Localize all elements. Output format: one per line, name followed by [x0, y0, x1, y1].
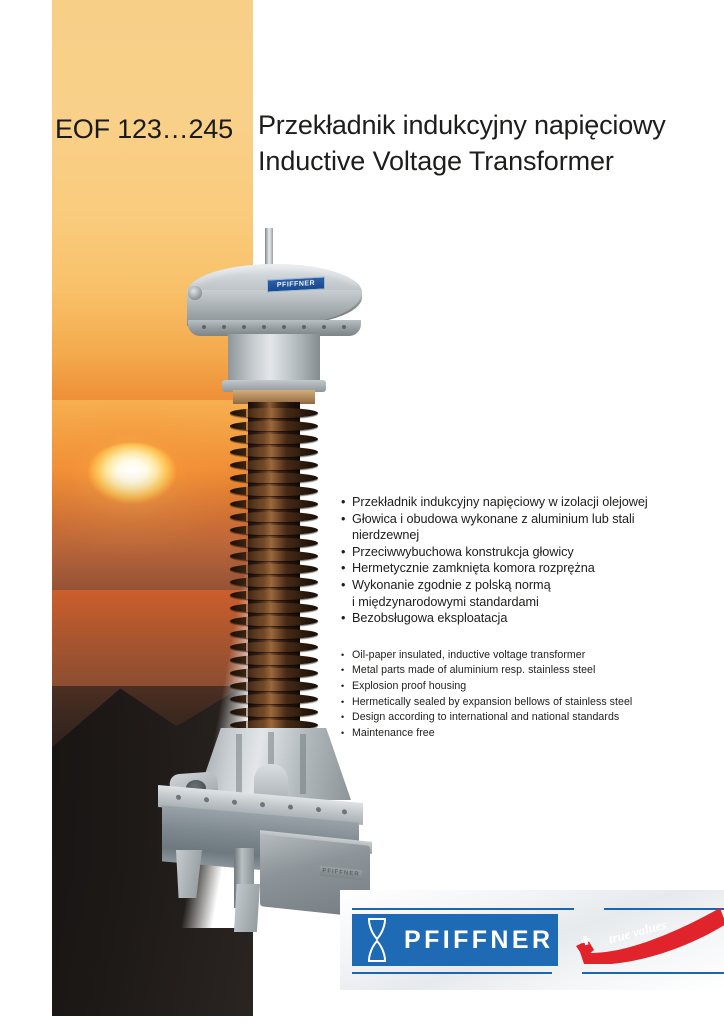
list-item-continuation: i międzynarodowymi standardami [341, 594, 721, 611]
footer-rule-top-left [352, 908, 574, 910]
list-item: Przekładnik indukcyjny napięciowy w izol… [341, 494, 721, 511]
head-side-boss [188, 286, 202, 300]
mounting-foot-left [176, 850, 202, 898]
product-code: EOF 123…245 [55, 114, 233, 145]
list-item: Hermetycznie zamknięta komora rozprężna [341, 560, 721, 577]
page-title: Przekładnik indukcyjny napięciowy Induct… [258, 108, 718, 178]
logo-wordmark: PFIFFNER [404, 926, 553, 955]
footer-branding: PFIFFNER true values [352, 898, 724, 984]
list-item: Oil-paper insulated, inductive voltage t… [341, 648, 721, 664]
list-item: Maintenance free [341, 726, 721, 742]
true-values-ribbon: true values [574, 906, 724, 964]
porcelain-insulator-column [230, 402, 318, 732]
hv-terminal-rod [265, 228, 273, 268]
mounting-foot-right [234, 884, 260, 932]
list-item: Głowica i obudowa wykonane z aluminium l… [341, 511, 721, 528]
pfiffner-logo[interactable]: PFIFFNER [352, 914, 558, 966]
list-item: Explosion proof housing [341, 679, 721, 695]
hourglass-logo-icon [364, 918, 390, 962]
head-neck [228, 334, 320, 386]
list-item: Bezobsługowa eksploatacja [341, 610, 721, 627]
brochure-page: PFIFFNER [0, 0, 724, 1024]
list-item: Wykonanie zgodnie z polską normą [341, 577, 721, 594]
list-item-continuation: nierdzewnej [341, 527, 721, 544]
feature-list-polish: Przekładnik indukcyjny napięciowy w izol… [341, 494, 721, 627]
feature-lists: Przekładnik indukcyjny napięciowy w izol… [341, 494, 721, 741]
footer-rule-bottom-right [582, 972, 724, 974]
feature-list-english: Oil-paper insulated, inductive voltage t… [341, 648, 721, 742]
title-english: Inductive Voltage Transformer [258, 144, 718, 178]
list-item: Przeciwwybuchowa konstrukcja głowicy [341, 544, 721, 561]
list-item: Metal parts made of aluminium resp. stai… [341, 663, 721, 679]
footer-rule-bottom-left [352, 972, 552, 974]
list-item: Hermetically sealed by expansion bellows… [341, 695, 721, 711]
title-polish: Przekładnik indukcyjny napięciowy [258, 108, 718, 142]
list-item: Design according to international and na… [341, 710, 721, 726]
